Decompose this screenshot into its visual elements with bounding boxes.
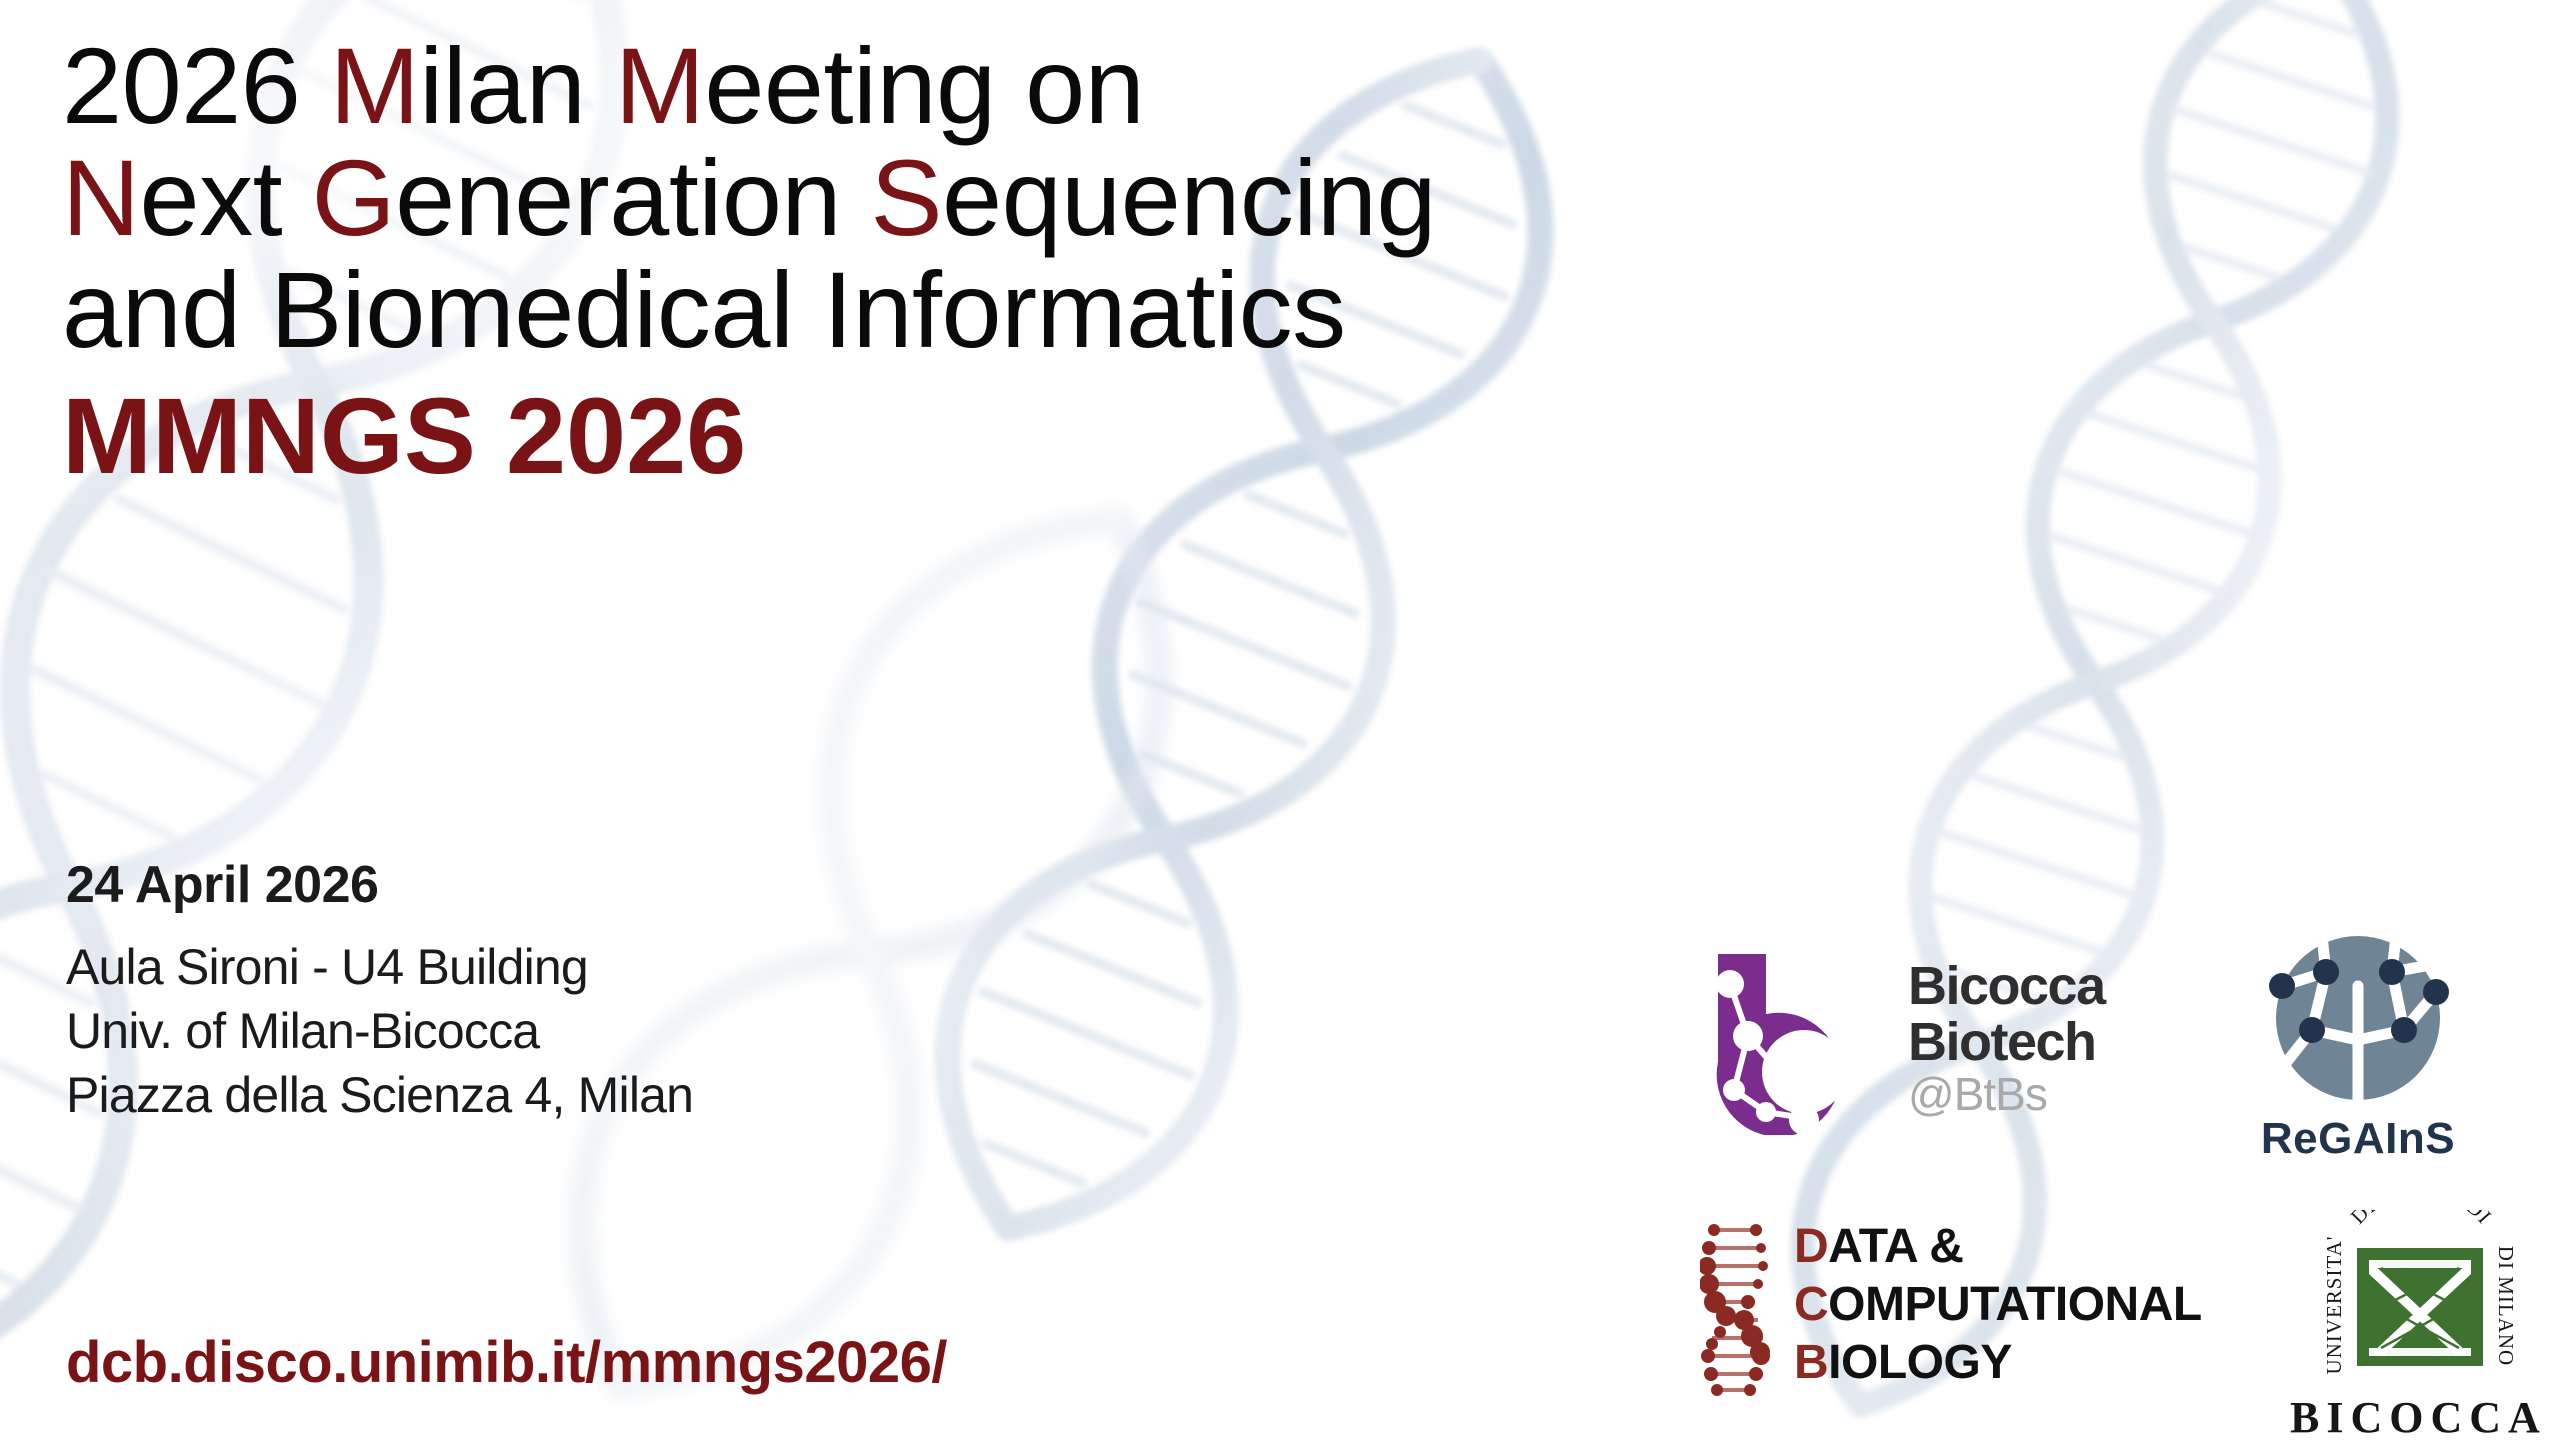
title-l2-part-0: N xyxy=(62,137,140,258)
dcb-rest-2: OMPUTATIONAL xyxy=(1828,1278,2202,1331)
title-line-1: 2026 Milan Meeting on xyxy=(62,30,2162,142)
venue-line-1: Aula Sironi - U4 Building xyxy=(66,935,693,999)
title-acronym-line: MMNGS 2026 xyxy=(62,380,2162,492)
btbs-handle: @BtBs xyxy=(1908,1071,2105,1117)
unimib-arc-top: DEGLI STUDI xyxy=(2346,1210,2497,1229)
title-l1-part-3: M xyxy=(615,25,704,146)
poster-title-block: 2026 Milan Meeting on Next Generation Se… xyxy=(62,30,2162,492)
bicocca-biotech-wordmark: Bicocca Biotech @BtBs xyxy=(1908,959,2105,1117)
dcb-rest-3: IOLOGY xyxy=(1828,1336,2012,1389)
svg-text:DEGLI STUDI: DEGLI STUDI xyxy=(2346,1210,2497,1229)
btbs-line-2: Biotech xyxy=(1908,1015,2105,1069)
venue-line-2: Univ. of Milan-Bicocca xyxy=(66,999,693,1063)
event-website-url[interactable]: dcb.disco.unimib.it/mmngs2026/ xyxy=(66,1330,947,1396)
event-details-block: 24 April 2026 Aula Sironi - U4 Building … xyxy=(66,855,693,1127)
title-line-3: and Biomedical Informatics xyxy=(62,254,2162,366)
dcb-row-2: COMPUTATIONAL xyxy=(1794,1281,2202,1329)
title-l1-part-4: eeting on xyxy=(704,25,1144,146)
unimib-arc-left: UNIVERSITA' xyxy=(2322,1235,2346,1374)
dcb-cap-1: D xyxy=(1794,1220,1828,1273)
dcb-rest-1: ATA & xyxy=(1828,1220,1963,1273)
title-l1-part-2: ilan xyxy=(419,25,615,146)
logo-bicocca-biotech[interactable]: Bicocca Biotech @BtBs xyxy=(1700,940,2105,1135)
title-l2-part-5: equencing xyxy=(942,137,1436,258)
dcb-cap-3: B xyxy=(1794,1336,1828,1389)
regains-network-circle-mark-icon xyxy=(2260,930,2456,1110)
unimib-wordmark: BICOCCA xyxy=(2290,1392,2547,1440)
title-l1-part-0: 2026 xyxy=(62,25,330,146)
unimib-green-square-mark-icon: DEGLI STUDI UNIVERSITA' DI MILANO xyxy=(2311,1210,2526,1390)
regains-wordmark: ReGAInS xyxy=(2261,1114,2455,1164)
dcb-row-3: BIOLOGY xyxy=(1794,1339,2202,1387)
title-l3-part-0: and Biomedical Informatics xyxy=(62,249,1346,370)
logo-data-computational-biology[interactable]: DATA & COMPUTATIONAL BIOLOGY xyxy=(1700,1220,2202,1400)
logo-regains[interactable]: ReGAInS xyxy=(2260,930,2456,1164)
conference-poster: 2026 Milan Meeting on Next Generation Se… xyxy=(0,0,2560,1440)
dcb-cap-2: C xyxy=(1794,1278,1828,1331)
title-l2-part-2: G xyxy=(312,137,396,258)
title-l2-part-4: S xyxy=(870,137,942,258)
title-l2-part-1: ext xyxy=(140,137,312,258)
sponsor-logo-grid: Bicocca Biotech @BtBs xyxy=(1700,930,2530,1430)
title-l2-part-3: eneration xyxy=(395,137,870,258)
bicocca-biotech-b-mark-icon xyxy=(1700,940,1890,1135)
dcb-row-1: DATA & xyxy=(1794,1223,2202,1271)
title-l1-part-1: M xyxy=(330,25,419,146)
logo-universita-milano-bicocca[interactable]: DEGLI STUDI UNIVERSITA' DI MILANO xyxy=(2290,1210,2547,1440)
event-date: 24 April 2026 xyxy=(66,855,693,915)
dcb-dna-helix-mark-icon xyxy=(1700,1220,1778,1400)
btbs-line-1: Bicocca xyxy=(1908,959,2105,1013)
venue-line-3: Piazza della Scienza 4, Milan xyxy=(66,1063,693,1127)
dcb-wordmark: DATA & COMPUTATIONAL BIOLOGY xyxy=(1794,1223,2202,1397)
title-line-2: Next Generation Sequencing xyxy=(62,142,2162,254)
unimib-arc-right: DI MILANO xyxy=(2494,1246,2518,1366)
